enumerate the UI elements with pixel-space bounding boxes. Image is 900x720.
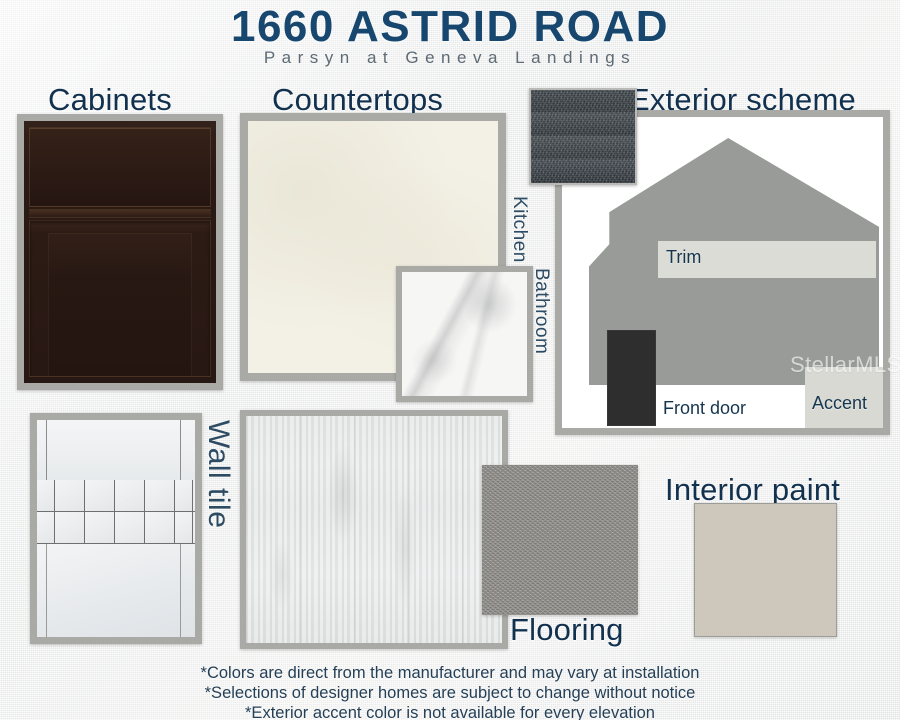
bathroom-countertop-fill xyxy=(402,272,527,396)
disclaimer-line: *Selections of designer homes are subjec… xyxy=(0,683,900,703)
section-label-wall-tile: Wall tile xyxy=(201,420,235,528)
selection-board: 1660 ASTRID ROAD Parsyn at Geneva Landin… xyxy=(0,0,900,720)
label-accent: Accent xyxy=(812,393,867,414)
mosaic-row xyxy=(37,512,195,544)
roof-shingle-swatch xyxy=(529,88,637,185)
wood-plank-fill xyxy=(246,416,502,643)
disclaimer-line: *Exterior accent color is not available … xyxy=(0,703,900,720)
wall-tile-fill xyxy=(37,420,195,637)
mosaic-row xyxy=(37,480,195,512)
wall-tile-upper-field xyxy=(37,420,195,481)
cabinet-door-fill xyxy=(24,121,216,383)
wall-tile-mosaic-band xyxy=(37,480,195,543)
label-trim: Trim xyxy=(666,247,701,268)
bathroom-countertop-swatch xyxy=(396,266,533,402)
cabinet-swatch xyxy=(17,114,223,390)
section-label-cabinets: Cabinets xyxy=(48,82,172,118)
page-title: 1660 ASTRID ROAD xyxy=(0,4,900,50)
label-bathroom: Bathroom xyxy=(530,268,552,354)
front-door-color-box xyxy=(607,330,656,426)
wood-plank-flooring-swatch xyxy=(240,410,508,649)
cabinet-center-panel xyxy=(29,220,211,377)
cabinet-top-rail xyxy=(29,127,211,207)
carpet-swatch xyxy=(482,465,638,615)
wall-tile-swatch xyxy=(30,413,202,644)
label-front-door: Front door xyxy=(663,398,746,419)
section-label-flooring: Flooring xyxy=(510,612,624,648)
page-subtitle: Parsyn at Geneva Landings xyxy=(0,48,900,68)
disclaimer-line: *Colors are direct from the manufacturer… xyxy=(0,663,900,683)
label-kitchen: Kitchen xyxy=(508,196,530,263)
cabinet-mid-rail xyxy=(29,209,211,217)
disclaimer-notes: *Colors are direct from the manufacturer… xyxy=(0,663,900,720)
interior-paint-swatch xyxy=(694,503,837,637)
wall-tile-lower-field xyxy=(37,544,195,637)
cabinet-door xyxy=(24,121,216,383)
